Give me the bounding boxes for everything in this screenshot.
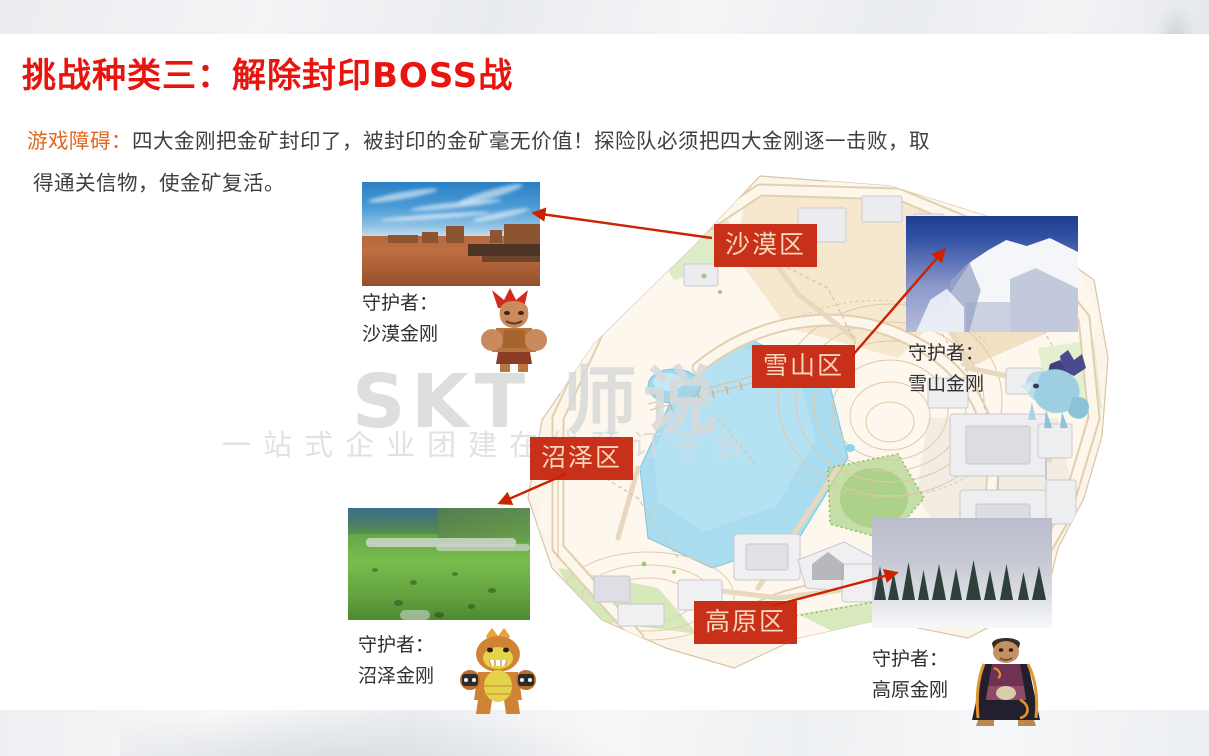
- top-texture-band: [0, 0, 1209, 34]
- guardian-caption-desert: 守护者： 沙漠金刚: [362, 288, 438, 350]
- obstacle-text-1: 四大金刚把金矿封印了，被封印的金矿毫无价值！探险队必须把四大金刚逐一击败，取: [132, 129, 930, 153]
- guardian-name-desert: 沙漠金刚: [362, 319, 438, 350]
- page-title: 挑战种类三：解除封印BOSS战: [22, 48, 513, 97]
- boss-sprite-desert: [478, 288, 550, 372]
- photo-meadow: [348, 508, 530, 620]
- region-tag-desert[interactable]: 沙漠区: [714, 224, 817, 267]
- region-tag-plateau[interactable]: 高原区: [694, 601, 797, 644]
- boss-sprite-plateau: [968, 634, 1044, 726]
- guardian-label-snow: 守护者：: [908, 338, 984, 369]
- guardian-name-snow: 雪山金刚: [908, 369, 984, 400]
- region-tag-snow[interactable]: 雪山区: [752, 345, 855, 388]
- guardian-label-swamp: 守护者：: [358, 630, 434, 661]
- obstacle-label: 游戏障碍：: [27, 129, 132, 153]
- guardian-name-plateau: 高原金刚: [872, 675, 948, 706]
- obstacle-description: 游戏障碍：四大金刚把金矿封印了，被封印的金矿毫无价值！探险队必须把四大金刚逐一击…: [27, 120, 1157, 204]
- region-tag-swamp[interactable]: 沼泽区: [530, 437, 633, 480]
- boss-sprite-swamp: [456, 626, 540, 714]
- obstacle-line-1: 游戏障碍：四大金刚把金矿封印了，被封印的金矿毫无价值！探险队必须把四大金刚逐一击…: [27, 120, 1157, 162]
- guardian-caption-plateau: 守护者： 高原金刚: [872, 644, 948, 706]
- guardian-label-plateau: 守护者：: [872, 644, 948, 675]
- photo-plateau-forest: [872, 518, 1052, 628]
- guardian-name-swamp: 沼泽金刚: [358, 661, 434, 692]
- guardian-caption-swamp: 守护者： 沼泽金刚: [358, 630, 434, 692]
- guardian-caption-snow: 守护者： 雪山金刚: [908, 338, 984, 400]
- obstacle-text-2: 得通关信物，使金矿复活。: [33, 162, 1157, 204]
- boss-sprite-snow: [1016, 350, 1094, 430]
- guardian-label-desert: 守护者：: [362, 288, 438, 319]
- photo-snow-mountain: [906, 216, 1078, 332]
